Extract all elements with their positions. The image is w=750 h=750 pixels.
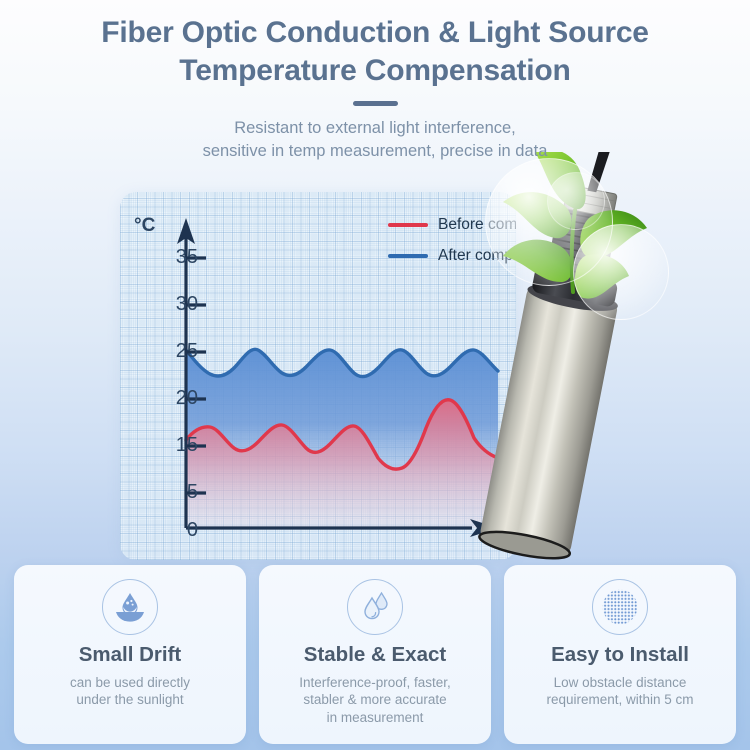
card-title-2: Stable & Exact [304,643,446,668]
card-desc-2-line-2: stabler & more accurate [299,691,451,709]
card-icon-frame-1 [102,579,158,635]
card-desc-1-line-1: can be used directly [70,674,190,692]
card-desc-3-line-2: requirement, within 5 cm [546,691,693,709]
feature-card-small-drift[interactable]: Small Drift can be used directly under t… [14,565,246,744]
water-drop-bowl-icon [113,590,147,624]
y-tick-20: 20 [154,387,198,410]
card-desc-3-line-1: Low obstacle distance [546,674,693,692]
card-icon-frame-2 [347,579,403,635]
dotted-mesh-circle-icon [600,587,640,627]
product-image [455,152,750,572]
feature-cards: Small Drift can be used directly under t… [0,565,750,750]
feature-card-easy-install[interactable]: Easy to Install Low obstacle distance re… [504,565,736,744]
page-title: Fiber Optic Conduction & Light Source Te… [0,14,750,90]
y-axis-unit-label: °C [134,215,155,237]
line-swatch-blue-icon [388,254,428,258]
two-water-drops-icon [358,590,392,624]
page-title-line-1: Fiber Optic Conduction & Light Source [0,14,750,52]
y-tick-30: 30 [154,293,198,316]
y-tick-0: 0 [154,519,198,542]
line-swatch-red-icon [388,223,428,227]
card-title-1: Small Drift [79,643,182,668]
card-title-3: Easy to Install [551,643,689,668]
title-divider [353,101,398,106]
decorative-bubble-2 [573,224,669,320]
page-title-line-2: Temperature Compensation [0,52,750,90]
page-subtitle: Resistant to external light interference… [0,117,750,164]
page-subtitle-line-1: Resistant to external light interference… [0,117,750,140]
feature-card-stable-exact[interactable]: Stable & Exact Interference-proof, faste… [259,565,491,744]
sensor-body [479,285,619,556]
y-tick-35: 35 [154,246,198,269]
card-desc-1: can be used directly under the sunlight [70,674,190,709]
page-subtitle-line-2: sensitive in temp measurement, precise i… [0,140,750,163]
card-icon-frame-3 [592,579,648,635]
card-desc-1-line-2: under the sunlight [70,691,190,709]
page-header: Fiber Optic Conduction & Light Source Te… [0,0,750,163]
card-desc-2: Interference-proof, faster, stabler & mo… [299,674,451,727]
y-tick-25: 25 [154,340,198,363]
y-tick-15: 15 [154,434,198,457]
card-desc-3: Low obstacle distance requirement, withi… [546,674,693,709]
card-desc-2-line-3: in measurement [299,709,451,727]
y-tick-5: 5 [154,481,198,504]
card-desc-2-line-1: Interference-proof, faster, [299,674,451,692]
decorative-bubble-3 [547,172,605,230]
